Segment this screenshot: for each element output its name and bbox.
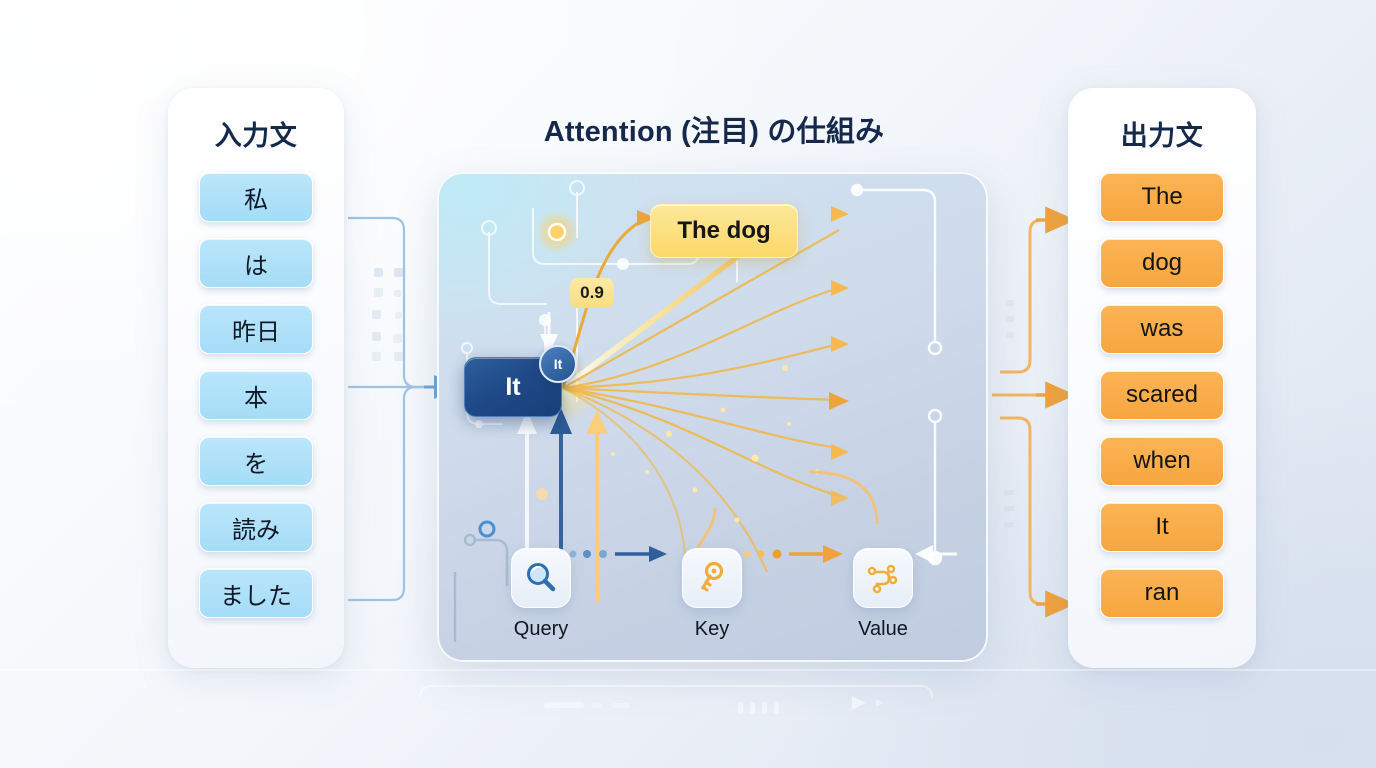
key-to-value-arrow bbox=[730, 545, 844, 563]
output-token-chip[interactable]: scared bbox=[1100, 370, 1224, 420]
input-token-chip[interactable]: 昨日 bbox=[199, 304, 313, 354]
node-graph-icon bbox=[865, 560, 901, 596]
input-token-chip[interactable]: 読み bbox=[199, 502, 313, 552]
input-token-chip[interactable]: 本 bbox=[199, 370, 313, 420]
key-icon bbox=[694, 560, 730, 596]
attention-rays bbox=[529, 212, 839, 572]
query-token-badge: It bbox=[539, 345, 577, 383]
input-panel-title: 入力文 bbox=[215, 114, 298, 153]
value-label: Value bbox=[858, 618, 908, 641]
right-rail-decor bbox=[852, 185, 941, 564]
word-arrowheads bbox=[829, 206, 849, 506]
output-token-chip[interactable]: ran bbox=[1100, 568, 1224, 618]
input-token-chip[interactable]: ました bbox=[199, 568, 313, 618]
input-token-chip[interactable]: は bbox=[199, 238, 313, 288]
output-token-chip[interactable]: It bbox=[1100, 502, 1224, 552]
attention-score-badge: 0.9 bbox=[570, 278, 614, 308]
circuit-node-icon bbox=[480, 522, 494, 536]
input-token-chip[interactable]: 私 bbox=[199, 172, 313, 222]
input-token-chip[interactable]: を bbox=[199, 436, 313, 486]
output-token-chip[interactable]: The bbox=[1100, 172, 1224, 222]
diagram-canvas: Attention (注目) の仕組み bbox=[0, 0, 1376, 768]
key-icon-tile bbox=[682, 548, 742, 608]
key-label: Key bbox=[695, 618, 729, 641]
magnifier-icon bbox=[523, 560, 559, 596]
output-panel-title: 出力文 bbox=[1121, 114, 1204, 153]
node-graph-icon-tile bbox=[853, 548, 913, 608]
output-token-chip[interactable]: dog bbox=[1100, 238, 1224, 288]
output-token-chip[interactable]: was bbox=[1100, 304, 1224, 354]
input-connector-group bbox=[348, 218, 430, 600]
qkv-route-decor bbox=[455, 535, 507, 642]
output-connector-group bbox=[992, 220, 1048, 604]
output-sentence-panel: 出力文 The dog was scared when It ran bbox=[1068, 88, 1256, 668]
bottom-decor bbox=[0, 658, 1376, 768]
input-sentence-panel: 入力文 私 は 昨日 本 を 読み ました bbox=[168, 88, 344, 668]
query-to-key-arrow bbox=[556, 546, 668, 562]
focus-phrase-box[interactable]: The dog bbox=[650, 204, 798, 258]
magnifier-icon-tile bbox=[511, 548, 571, 608]
output-token-chip[interactable]: when bbox=[1100, 436, 1224, 486]
query-label: Query bbox=[514, 618, 568, 641]
